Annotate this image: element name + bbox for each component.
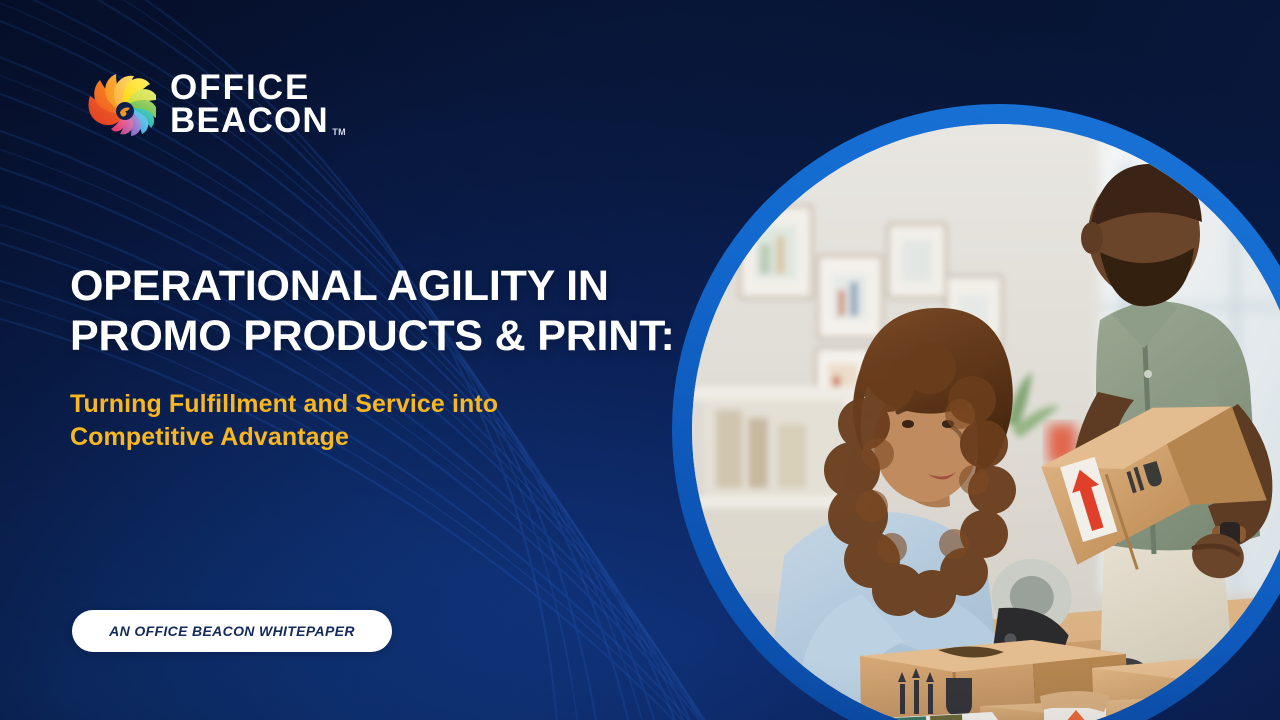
headline-block: OPERATIONAL AGILITY IN PROMO PRODUCTS & … xyxy=(70,262,710,454)
page-subtitle: Turning Fulfillment and Service into Com… xyxy=(70,388,590,454)
title-line-2: PROMO PRODUCTS & PRINT: xyxy=(70,312,675,360)
logo-line-2: BEACON xyxy=(170,105,329,138)
subtitle-line-1: Turning Fulfillment and Service into xyxy=(70,390,498,418)
trademark-symbol: TM xyxy=(332,128,346,136)
page-title: OPERATIONAL AGILITY IN PROMO PRODUCTS & … xyxy=(70,262,710,362)
subtitle-line-2: Competitive Advantage xyxy=(70,423,349,451)
whitepaper-badge: AN OFFICE BEACON WHITEPAPER xyxy=(72,610,392,652)
title-line-1: OPERATIONAL AGILITY IN xyxy=(70,262,609,310)
hero-photo xyxy=(692,124,1280,720)
whitepaper-badge-label: AN OFFICE BEACON WHITEPAPER xyxy=(109,623,355,639)
office-beacon-wordmark: OFFICE BEACON TM xyxy=(170,72,329,138)
office-beacon-logo[interactable]: OFFICE BEACON TM xyxy=(84,72,329,138)
whitepaper-cover-slide: OFFICE BEACON TM OPERATIONAL AGILITY IN … xyxy=(0,0,1280,720)
office-beacon-spiral-logo-icon xyxy=(84,72,156,138)
